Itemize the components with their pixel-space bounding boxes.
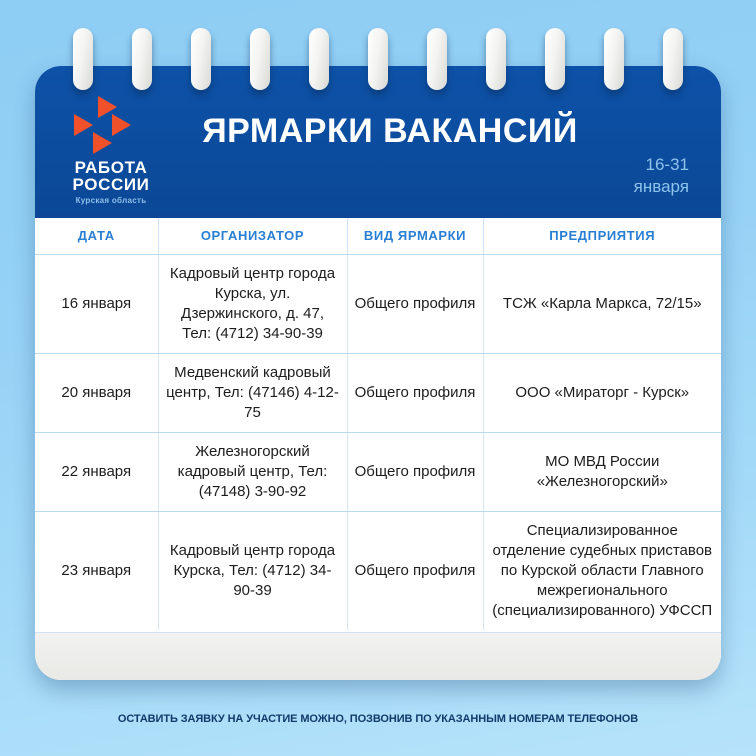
- table-row: 20 января Медвенский кадровый центр, Тел…: [35, 353, 721, 432]
- cell-organizer: Железногорский кадровый центр, Тел: (471…: [158, 432, 347, 511]
- pinwheel-triangle-right: [112, 114, 131, 136]
- column-header-fair-type: ВИД ЯРМАРКИ: [347, 218, 483, 254]
- cell-organizer: Кадровый центр города Курска, Тел: (4712…: [158, 511, 347, 630]
- page-title: ЯРМАРКИ ВАКАНСИЙ: [175, 112, 605, 151]
- cell-fair-type: Общего профиля: [347, 511, 483, 630]
- column-header-enterprise: ПРЕДПРИЯТИЯ: [483, 218, 721, 254]
- cell-organizer: Кадровый центр города Курска, ул. Дзержи…: [158, 254, 347, 353]
- pinwheel-triangle-left: [74, 114, 93, 136]
- cell-date: 16 января: [35, 254, 158, 353]
- cell-fair-type: Общего профиля: [347, 254, 483, 353]
- column-header-date: ДАТА: [35, 218, 158, 254]
- cell-enterprise: ООО «Мираторг - Курск»: [483, 353, 721, 432]
- job-fairs-table: ДАТА ОРГАНИЗАТОР ВИД ЯРМАРКИ ПРЕДПРИЯТИЯ…: [35, 218, 721, 630]
- column-header-organizer: ОРГАНИЗАТОР: [158, 218, 347, 254]
- brand-region: Курская область: [59, 196, 163, 205]
- date-range: 16-31 января: [634, 154, 689, 198]
- table-header-row: ДАТА ОРГАНИЗАТОР ВИД ЯРМАРКИ ПРЕДПРИЯТИЯ: [35, 218, 721, 254]
- cell-organizer: Медвенский кадровый центр, Тел: (47146) …: [158, 353, 347, 432]
- cell-date: 23 января: [35, 511, 158, 630]
- cell-enterprise: ТСЖ «Карла Маркса, 72/15»: [483, 254, 721, 353]
- date-range-days: 16-31: [634, 154, 689, 176]
- date-range-month: января: [634, 176, 689, 198]
- cell-fair-type: Общего профиля: [347, 353, 483, 432]
- brand-line-1: РАБОТА: [59, 159, 163, 176]
- pinwheel-triangle-bottom: [93, 132, 112, 154]
- brand-logo: РАБОТА РОССИИ Курская область: [59, 96, 163, 205]
- cell-enterprise: МО МВД России «Железногорский»: [483, 432, 721, 511]
- card-bottom-lip: [35, 632, 721, 680]
- table-row: 22 января Железногорский кадровый центр,…: [35, 432, 721, 511]
- cell-fair-type: Общего профиля: [347, 432, 483, 511]
- table-row: 23 января Кадровый центр города Курска, …: [35, 511, 721, 630]
- work-in-russia-pinwheel-icon: [74, 96, 148, 154]
- cell-date: 20 января: [35, 353, 158, 432]
- footer-note: ОСТАВИТЬ ЗАЯВКУ НА УЧАСТИЕ МОЖНО, ПОЗВОН…: [0, 713, 756, 725]
- brand-line-2: РОССИИ: [59, 176, 163, 193]
- table-row: 16 января Кадровый центр города Курска, …: [35, 254, 721, 353]
- cell-date: 22 января: [35, 432, 158, 511]
- card-header: РАБОТА РОССИИ Курская область ЯРМАРКИ ВА…: [35, 66, 721, 218]
- cell-enterprise: Специализированное отделение судебных пр…: [483, 511, 721, 630]
- calendar-card: РАБОТА РОССИИ Курская область ЯРМАРКИ ВА…: [35, 66, 721, 680]
